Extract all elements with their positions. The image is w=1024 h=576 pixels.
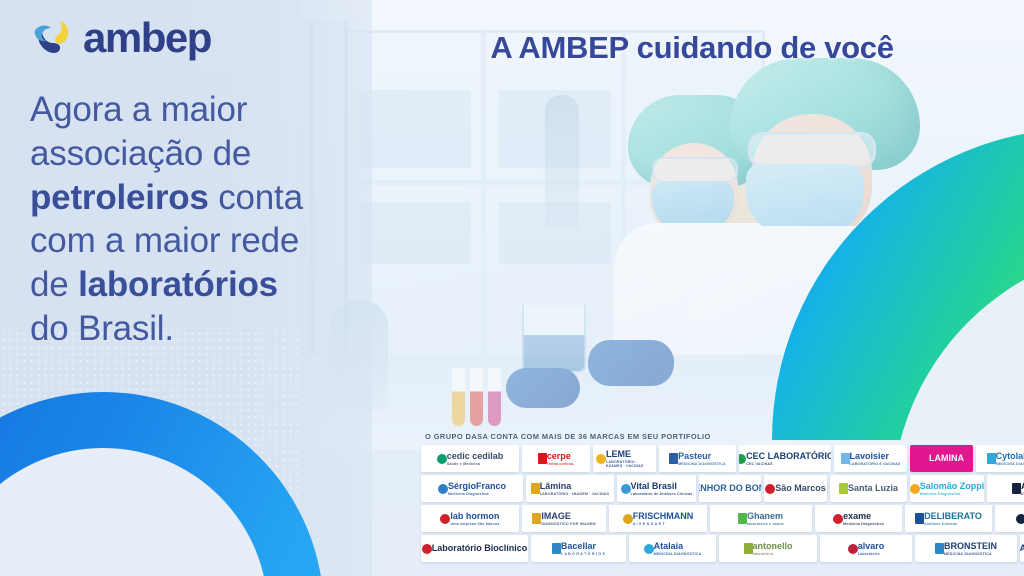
brand-name-label: Salomão Zoppi xyxy=(920,482,984,491)
headline-line-4: com a maior rede xyxy=(30,221,299,260)
poster-canvas: ambep Agora a maior associação de petrol… xyxy=(0,0,1024,576)
brand-name-label: Santa Luzia xyxy=(848,484,898,493)
brand-logo-alta-diagnosticos[interactable]: ALTADiagnósticos xyxy=(987,475,1024,502)
brand-logo-leme[interactable]: LEMELABORATÓRIO · EXAMES · VACINAS xyxy=(593,445,656,472)
brand-tagline-label: Uma empresa São Marcos xyxy=(450,522,499,526)
brand-mark-icon xyxy=(739,454,746,464)
brand-logo-sergio-franco[interactable]: SérgioFrancoMedicina Diagnóstica xyxy=(421,475,523,502)
brands-row: Laboratório BioclínicoBacellarL A B O R … xyxy=(421,535,1019,562)
brand-logo-deliberato[interactable]: DELIBERATOAnálises Clínicas xyxy=(905,505,992,532)
brand-mark-icon xyxy=(1012,483,1021,494)
brands-row: SérgioFrancoMedicina DiagnósticaLâminaLA… xyxy=(421,475,1019,502)
brand-tagline-label: LABORATÓRIO · IMAGEM · VACINAS xyxy=(540,492,610,496)
brand-tagline-label: MEDICINA DIAGNÓSTICA xyxy=(996,462,1024,466)
brand-logo-bacellar[interactable]: BacellarL A B O R A T Ó R I O S xyxy=(531,535,626,562)
brand-mark-icon xyxy=(422,544,432,554)
brand-name-label: exame xyxy=(843,512,884,521)
page-headline: Agora a maior associação de petroleiros … xyxy=(30,88,360,351)
brand-logo-image[interactable]: IMAGEDIAGNÓSTICO POR IMAGEM xyxy=(522,505,606,532)
brand-tagline-label: LABORATÓRIO E VACINAS xyxy=(850,462,901,466)
brand-mark-icon xyxy=(621,484,631,494)
brand-mark-icon xyxy=(538,453,547,464)
brands-caption: O GRUPO DASA CONTA COM MAIS DE 36 MARCAS… xyxy=(425,432,1019,441)
brand-mark-icon xyxy=(935,543,944,554)
brand-tagline-label: Laboratório xyxy=(858,552,885,556)
brands-row: lab hormonUma empresa São MarcosIMAGEDIA… xyxy=(421,505,1019,532)
brand-name-label: Ghanem xyxy=(747,512,784,521)
brand-mark-icon xyxy=(744,543,753,554)
brand-tagline-label: Tenha certeza. xyxy=(547,462,575,466)
brand-mark-icon xyxy=(596,454,606,464)
brand-tagline-label: laboratório xyxy=(753,552,793,556)
brand-logo-exame[interactable]: exameMedicina Diagnóstica xyxy=(815,505,902,532)
headline-bold-petroleiros: petroleiros xyxy=(30,178,209,217)
brand-mark-icon xyxy=(915,513,924,524)
brand-mark-icon xyxy=(440,514,450,524)
brand-logo-atalaia[interactable]: AtalaiaMEDICINA DIAGNÓSTICA xyxy=(629,535,716,562)
brand-tagline-label: Medicina Diagnóstica xyxy=(843,522,884,526)
brand-logo-sao-marcos[interactable]: São Marcos xyxy=(764,475,827,502)
ambep-logo[interactable]: ambep xyxy=(30,17,211,59)
brand-logo-ghanem[interactable]: Ghanemlaboratório e saúde xyxy=(710,505,812,532)
brand-mark-icon xyxy=(437,454,447,464)
brand-logo-salomao-zoppi[interactable]: Salomão ZoppiMedicina Diagnóstica xyxy=(910,475,984,502)
brand-logo-lavoisier[interactable]: LavoisierLABORATÓRIO E VACINAS xyxy=(834,445,907,472)
brand-logo-laboratorio-bioclinico[interactable]: Laboratório Bioclínico xyxy=(421,535,528,562)
brand-mark-icon xyxy=(833,514,843,524)
brand-name-label: LEME xyxy=(606,450,653,459)
brand-mark-icon xyxy=(910,484,920,494)
headline-line-3: conta xyxy=(209,178,303,217)
gradient-arc-decoration xyxy=(772,128,1024,440)
brand-mark-icon xyxy=(848,544,858,554)
brand-name-label: BRONSTEIN xyxy=(944,542,997,551)
brand-logo-lamina[interactable]: LâminaLABORATÓRIO · IMAGEM · VACINAS xyxy=(526,475,614,502)
brand-mark-icon xyxy=(765,484,775,494)
ambep-swoosh-icon xyxy=(30,17,74,59)
brand-logo-cec-laboratorio[interactable]: CEC LABORATÓRIOCEC VACINAS xyxy=(739,445,831,472)
brand-mark-icon xyxy=(552,543,561,554)
headline-line-2: associação de xyxy=(30,134,251,173)
brand-tagline-label: LABORATÓRIO · EXAMES · VACINAS xyxy=(606,460,653,468)
brand-logo-oswaldo-cruz[interactable]: LABORATÓRIO OSWALDO CRUZ xyxy=(1020,535,1024,562)
brand-tagline-label: Saúde e Medicina xyxy=(447,462,504,466)
brand-name-label: DELIBERATO xyxy=(924,512,982,521)
brand-name-label: cerpe xyxy=(547,452,575,461)
brand-logo-alvaro[interactable]: alvaroLaboratório xyxy=(820,535,912,562)
brand-name-label: antonello xyxy=(753,542,793,551)
brand-mark-icon xyxy=(919,454,929,464)
brand-name-label: Vital Brasil xyxy=(631,482,693,491)
brand-name-label: LABORATÓRIO OSWALDO CRUZ xyxy=(1020,544,1024,553)
brand-logo-vital-brasil[interactable]: Vital BrasilLaboratório de Análises Clín… xyxy=(617,475,696,502)
brand-logo-lamina-pink[interactable]: LAMINA xyxy=(910,445,973,472)
brand-mark-icon xyxy=(841,453,850,464)
brand-mark-icon xyxy=(532,513,541,524)
brand-mark-icon xyxy=(644,544,654,554)
brand-name-label: IMAGE xyxy=(541,512,595,521)
brand-name-label: Laboratório Bioclínico xyxy=(432,544,528,553)
brand-name-label: LAMINA xyxy=(929,454,964,463)
kicker-tagline: A AMBEP cuidando de você xyxy=(392,30,992,66)
brand-mark-icon xyxy=(438,484,448,494)
brand-logo-frischmann[interactable]: FRISCHMANNA I S E N G A R T xyxy=(609,505,707,532)
brand-name-label: cedic cedilab xyxy=(447,452,504,461)
brand-name-label: Lavoisier xyxy=(850,452,901,461)
brand-mark-icon xyxy=(531,483,540,494)
brand-tagline-label: DIAGNÓSTICO POR IMAGEM xyxy=(541,522,595,526)
brands-grid: cedic cedilabSaúde e MedicinacerpeTenha … xyxy=(421,445,1019,562)
ambep-wordmark: ambep xyxy=(83,17,211,59)
brand-logo-santa-luzia[interactable]: Santa Luzia xyxy=(830,475,907,502)
brand-mark-icon xyxy=(738,513,747,524)
brand-name-label: Cytolab xyxy=(996,452,1024,461)
brand-logo-delboni[interactable]: DelboniMedicina Diagnóstica xyxy=(995,505,1024,532)
brand-name-label: SENHOR DO BONFIM xyxy=(699,484,761,493)
brand-mark-icon xyxy=(1016,514,1024,524)
brands-section: O GRUPO DASA CONTA COM MAIS DE 36 MARCAS… xyxy=(421,432,1019,565)
brand-name-label: FRISCHMANN xyxy=(633,512,694,521)
brand-tagline-label: MEDICINA DIAGNÓSTICA xyxy=(944,552,997,556)
brand-mark-icon xyxy=(623,514,633,524)
headline-bold-laboratorios: laboratórios xyxy=(78,265,278,304)
brand-tagline-label: laboratório e saúde xyxy=(747,522,784,526)
brand-name-label: Bacellar xyxy=(561,542,605,551)
brand-name-label: Atalaia xyxy=(654,542,702,551)
brand-name-label: alvaro xyxy=(858,542,885,551)
brand-tagline-label: Análises Clínicas xyxy=(924,522,982,526)
brand-tagline-label: L A B O R A T Ó R I O S xyxy=(561,552,605,556)
brand-logo-senhor-do-bonfim[interactable]: SENHOR DO BONFIM xyxy=(699,475,761,502)
brand-logo-cedic-cedilab[interactable]: cedic cedilabSaúde e Medicina xyxy=(421,445,519,472)
brand-logo-lab-hormon[interactable]: lab hormonUma empresa São Marcos xyxy=(421,505,519,532)
brands-row: cedic cedilabSaúde e MedicinacerpeTenha … xyxy=(421,445,1019,472)
brand-tagline-label: Medicina Diagnóstica xyxy=(448,492,506,496)
headline-line-1: Agora a maior xyxy=(30,90,247,129)
brand-tagline-label: Medicina Diagnóstica xyxy=(920,492,984,496)
brand-mark-icon xyxy=(669,453,678,464)
brand-name-label: lab hormon xyxy=(450,512,499,521)
brand-name-label: SérgioFranco xyxy=(448,482,506,491)
brand-name-label: CEC LABORATÓRIO xyxy=(746,452,831,461)
headline-line-6: do Brasil. xyxy=(30,309,174,348)
brand-logo-antonello[interactable]: antonellolaboratório xyxy=(719,535,817,562)
brand-name-label: São Marcos xyxy=(775,484,826,493)
brand-name-label: Pasteur xyxy=(678,452,726,461)
headline-line-5: de xyxy=(30,265,78,304)
brand-tagline-label: CEC VACINAS xyxy=(746,462,831,466)
brand-tagline-label: Laboratório de Análises Clínicas xyxy=(631,492,693,496)
brand-logo-pasteur[interactable]: PasteurMEDICINA DIAGNÓSTICA xyxy=(659,445,736,472)
brand-name-label: Lâmina xyxy=(540,482,610,491)
brand-tagline-label: A I S E N G A R T xyxy=(633,522,694,526)
brand-mark-icon xyxy=(987,453,996,464)
brand-tagline-label: MEDICINA DIAGNÓSTICA xyxy=(678,462,726,466)
brand-tagline-label: MEDICINA DIAGNÓSTICA xyxy=(654,552,702,556)
brand-logo-cytolab[interactable]: CytolabMEDICINA DIAGNÓSTICA xyxy=(976,445,1024,472)
brand-logo-bronstein[interactable]: BRONSTEINMEDICINA DIAGNÓSTICA xyxy=(915,535,1017,562)
brand-mark-icon xyxy=(839,483,848,494)
brand-logo-cerpe[interactable]: cerpeTenha certeza. xyxy=(522,445,590,472)
